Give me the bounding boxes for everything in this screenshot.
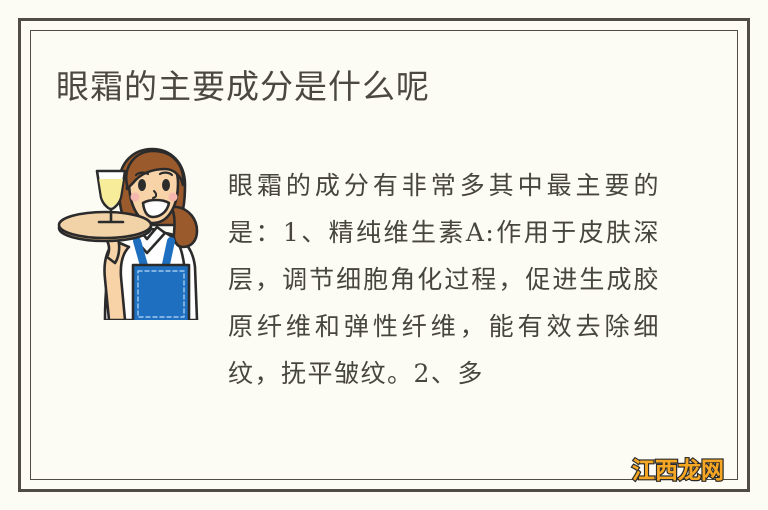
right-eye — [162, 179, 170, 191]
left-eye — [138, 179, 146, 191]
serving-tray-top — [59, 212, 151, 238]
document-page: 眼霜的主要成分是什么呢 — [0, 0, 768, 510]
page-title: 眼霜的主要成分是什么呢 — [56, 66, 430, 108]
left-blush — [131, 193, 140, 202]
waitress-with-tray-illustration — [57, 145, 207, 320]
article-body: 眼霜的成分有非常多其中最主要的是：1、精纯维生素A:作用于皮肤深层，调节细胞角化… — [228, 162, 660, 397]
apron — [133, 265, 189, 320]
right-blush — [169, 193, 178, 202]
watermark-text: 江西龙网 — [632, 458, 724, 484]
